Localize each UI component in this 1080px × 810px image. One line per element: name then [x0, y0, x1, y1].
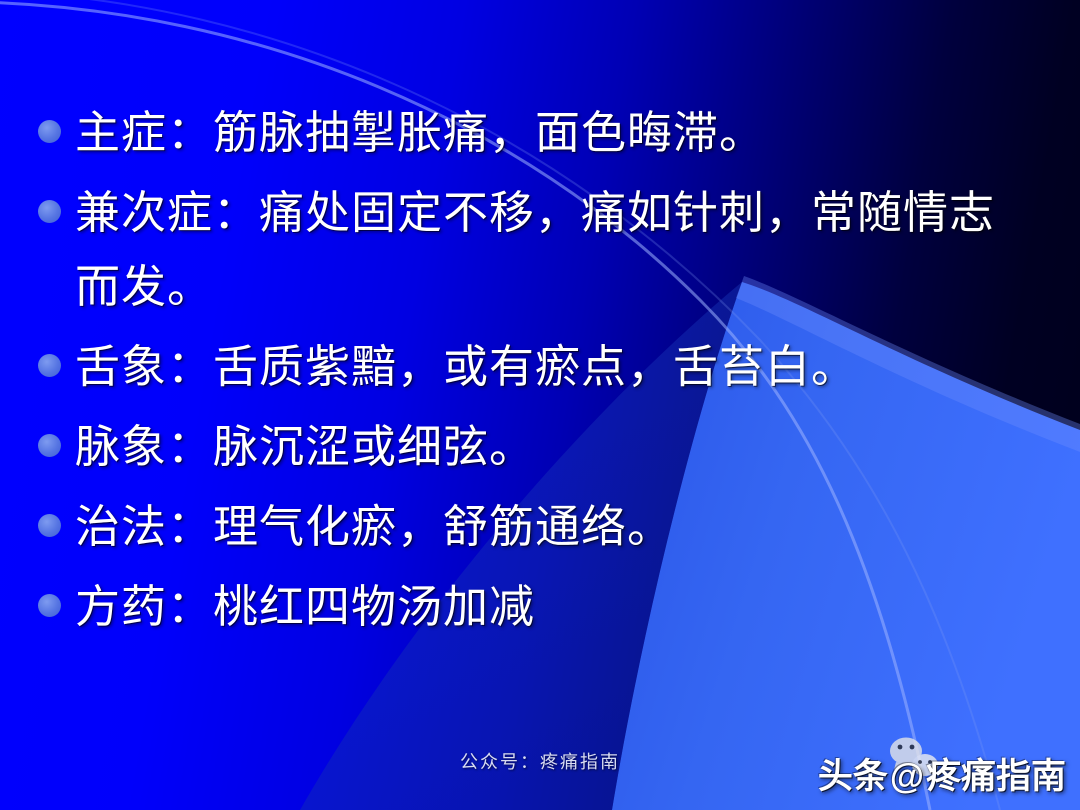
- bullet-dot-icon: [38, 514, 61, 537]
- brand-label: 头条@疼痛指南: [818, 748, 1066, 799]
- bullet-text: 主症：筋脉抽掣胀痛，面色晦滞。: [75, 96, 765, 170]
- list-item: 脉象：脉沉涩或细弦。: [0, 410, 1080, 484]
- brand-at-symbol: @: [888, 757, 926, 797]
- bullet-dot-icon: [38, 354, 61, 377]
- list-item: 治法：理气化瘀，舒筋通络。: [0, 490, 1080, 564]
- bullet-text: 兼次症：痛处固定不移，痛如针刺，常随情志而发。: [75, 176, 1005, 324]
- slide-canvas: 主症：筋脉抽掣胀痛，面色晦滞。 兼次症：痛处固定不移，痛如针刺，常随情志而发。 …: [0, 0, 1080, 810]
- bullet-text: 方药：桃红四物汤加减: [75, 570, 535, 644]
- brand-watermark: 头条@疼痛指南: [818, 746, 1066, 800]
- bullet-dot-icon: [38, 594, 61, 617]
- bullet-dot-icon: [38, 200, 61, 223]
- bullet-text: 舌象：舌质紫黯，或有瘀点，舌苔白。: [75, 330, 857, 404]
- list-item: 方药：桃红四物汤加减: [0, 570, 1080, 644]
- brand-platform: 头条: [818, 757, 888, 796]
- bullet-text: 脉象：脉沉涩或细弦。: [75, 410, 535, 484]
- bullet-dot-icon: [38, 434, 61, 457]
- bullet-list: 主症：筋脉抽掣胀痛，面色晦滞。 兼次症：痛处固定不移，痛如针刺，常随情志而发。 …: [0, 0, 1080, 650]
- brand-account: 疼痛指南: [926, 757, 1066, 796]
- list-item: 舌象：舌质紫黯，或有瘀点，舌苔白。: [0, 330, 1080, 404]
- bullet-text: 治法：理气化瘀，舒筋通络。: [75, 490, 673, 564]
- list-item: 兼次症：痛处固定不移，痛如针刺，常随情志而发。: [0, 176, 1080, 324]
- list-item: 主症：筋脉抽掣胀痛，面色晦滞。: [0, 96, 1080, 170]
- bullet-dot-icon: [38, 120, 61, 143]
